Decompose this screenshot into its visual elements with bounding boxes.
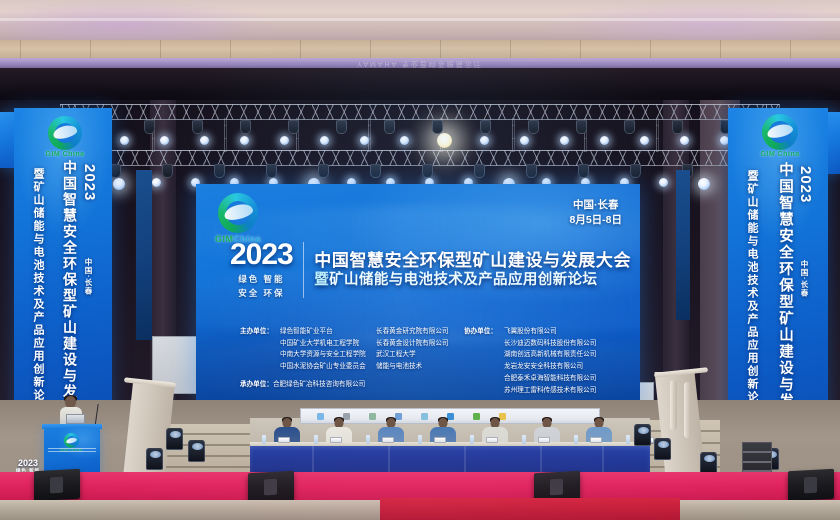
moving-head-light: [474, 164, 485, 178]
host-organizer-name: 长春黄金研究院有限公司: [376, 326, 468, 338]
stage-monitor-4: [788, 469, 834, 501]
stage-light-top: [520, 136, 529, 145]
event-title-sub-text: 矿山储能与电池技术及产品应用创新论坛: [329, 272, 597, 288]
host-organizer-row: 中国矿业大学机电工程学院长春黄金设计院有限公司: [240, 338, 468, 350]
podium-logo: GIM China: [60, 433, 82, 447]
stage-light-top: [600, 136, 609, 145]
banner-left-year: 2023: [81, 164, 98, 201]
moving-head-light: [336, 120, 347, 134]
host-label: [240, 349, 280, 361]
stage-light-top: [200, 136, 209, 145]
stage-light-top: [680, 136, 689, 145]
coorganizer-name: 湖南创远高新机械有限责任公司: [504, 349, 596, 361]
baluster-right-2: [684, 382, 691, 438]
moving-head-light: [192, 120, 203, 134]
road-case: [742, 442, 772, 476]
event-slogan-line1: 绿色 智能: [230, 273, 293, 286]
moving-head-light: [162, 164, 173, 178]
event-date: 8月5日-8日: [569, 213, 622, 228]
podium-year: 2023: [0, 458, 56, 468]
moving-head-light: [526, 164, 537, 178]
host-organizer-row: 主办单位：绿色智能矿业平台长春黄金研究院有限公司: [240, 326, 468, 338]
event-title-block: 2023 绿色 智能 安全 环保 中国智慧安全环保型矿山建设与发展大会 暨矿山储…: [230, 240, 631, 300]
title-divider: [303, 242, 305, 298]
event-slogan-line2: 安全 环保: [230, 287, 293, 300]
moving-head-light: [422, 164, 433, 178]
coorganizer-row: 苏州理工雷科传感技术有限公司: [464, 385, 596, 397]
banner-left-logo-wordmark: GIM China: [40, 151, 90, 158]
truss-brace: [368, 118, 371, 152]
host-organizer-rows: 主办单位：绿色智能矿业平台长春黄金研究院有限公司中国矿业大学机电工程学院长春黄金…: [240, 326, 468, 373]
event-title-sub: 暨矿山储能与电池技术及产品应用创新论坛: [314, 271, 631, 290]
podium-title-lines: [48, 448, 96, 454]
coorganizer-label: [464, 385, 504, 397]
water-bottle: [574, 435, 578, 444]
banner-left-logo-mark: [48, 116, 82, 150]
host-organizer-name: 武汉工程大学: [376, 349, 468, 361]
truss-brace: [656, 118, 659, 152]
water-bottle: [366, 435, 370, 444]
organizer-row: 承办单位： 合肥绿色矿冶科技咨询有限公司: [240, 379, 468, 391]
truss-upper: [60, 104, 780, 120]
taskbar-icon[interactable]: [421, 413, 428, 420]
stage-monitor-2: [248, 471, 294, 503]
stage-light-top: [240, 136, 249, 145]
moving-head-light: [214, 164, 225, 178]
name-placard: [486, 437, 498, 443]
banner-right-logo-wordmark: GIM China: [754, 151, 806, 158]
host-organizer-name: 中南大学资源与安全工程学院: [280, 349, 376, 361]
coorganizers-block: 协办单位：飞翼股份有限公司长沙迪迈数码科技股份有限公司湖南创远高新机械有限责任公…: [464, 326, 596, 396]
coorganizer-name: 飞翼股份有限公司: [504, 326, 557, 338]
coorganizer-label: 协办单位：: [464, 326, 504, 338]
moving-head-light: [384, 120, 395, 134]
host-organizer-row: 中国水泥协会矿山专业委员会储能与电池技术: [240, 361, 468, 373]
banner-right-logo-mark: [762, 114, 798, 150]
name-placard: [382, 437, 394, 443]
host-organizer-row: 中南大学资源与安全工程学院武汉工程大学: [240, 349, 468, 361]
host-organizer-name: 储能与电池技术: [376, 361, 468, 373]
gim-logo-mark: [218, 193, 258, 233]
name-placard: [278, 437, 290, 443]
moving-head-light: [288, 120, 299, 134]
taskbar-icon[interactable]: [369, 413, 376, 420]
moving-head-light: [528, 120, 539, 134]
moving-head-light: [624, 120, 635, 134]
event-location-block: 中国·长春 8月5日-8日: [569, 198, 622, 228]
floor-light-left-3: [146, 448, 163, 470]
water-bottle: [522, 435, 526, 444]
banner-left-subtitle: 暨矿山储能与电池技术及产品应用创新论坛: [30, 168, 46, 415]
vertical-banner-left: GIM China 2023 中国·长春 中国智慧安全环保型矿山建设与发展大会 …: [14, 108, 112, 438]
name-placard: [330, 437, 342, 443]
banner-right-year: 2023: [797, 166, 814, 203]
stage-light-top: [480, 136, 489, 145]
name-placard: [590, 437, 602, 443]
moving-head-light: [370, 164, 381, 178]
host-label: [240, 338, 280, 350]
host-label: 主办单位：: [240, 326, 280, 338]
side-led-inner-right: [676, 170, 690, 320]
main-led-screen: GIMChina 中国·长春 8月5日-8日 2023 绿色 智能 安全 环保 …: [196, 184, 640, 404]
baluster-right-1: [670, 380, 677, 430]
coorganizer-row: 龙岩龙安安全科技有限公司: [464, 361, 596, 373]
stage-light-highlight: [437, 133, 452, 148]
moving-head-light: [480, 120, 491, 134]
truss-brace: [512, 118, 515, 152]
host-organizer-name: 长春黄金设计院有限公司: [376, 338, 468, 350]
stage-light-top: [320, 136, 329, 145]
moving-head-light: [578, 164, 589, 178]
water-bottle: [314, 435, 318, 444]
stage-light-top: [360, 136, 369, 145]
host-organizer-name: 中国矿业大学机电工程学院: [280, 338, 376, 350]
stage-light-bottom: [698, 178, 710, 190]
name-placard: [434, 437, 446, 443]
event-year: 2023: [230, 240, 293, 270]
name-placard: [538, 437, 550, 443]
moving-head-light: [318, 164, 329, 178]
event-title-sub-prefix: 暨: [314, 272, 329, 288]
side-led-inner-left: [136, 170, 152, 340]
moving-head-light: [240, 120, 251, 134]
ceiling-glow-right: [540, 0, 840, 42]
stage-light-top: [400, 136, 409, 145]
moving-head-light: [576, 120, 587, 134]
banner-right-location: 中国·长春: [799, 260, 810, 298]
host-organizer-name: 中国水泥协会矿山专业委员会: [280, 361, 376, 373]
coorganizer-row: 协办单位：飞翼股份有限公司: [464, 326, 596, 338]
banner-left-location: 中国·长春: [83, 258, 94, 296]
stage-light-top: [120, 136, 129, 145]
coorganizer-rows: 协办单位：飞翼股份有限公司长沙迪迈数码科技股份有限公司湖南创远高新机械有限责任公…: [464, 326, 596, 396]
coorganizer-row: 长沙迪迈数码科技股份有限公司: [464, 338, 596, 350]
coorganizer-label: [464, 349, 504, 361]
stage-light-top: [160, 136, 169, 145]
coorganizer-name: 长沙迪迈数码科技股份有限公司: [504, 338, 596, 350]
coorganizer-name: 合肥泰禾卓海智能科技有限公司: [504, 373, 596, 385]
moving-head-light: [144, 120, 155, 134]
ceiling-glow-left: [0, 0, 280, 42]
banner-right-logo: GIM China: [754, 114, 806, 158]
stage-red-runner: [380, 498, 680, 520]
event-year-block: 2023 绿色 智能 安全 环保: [230, 240, 303, 300]
floor-light-left-2: [188, 440, 205, 462]
stage-light-top: [640, 136, 649, 145]
coorganizer-row: 湖南创远高新机械有限责任公司: [464, 349, 596, 361]
stage-light-top: [280, 136, 289, 145]
stage-monitor-1: [34, 469, 80, 501]
coorganizer-label: [464, 338, 504, 350]
conference-stage-photo: YAMAHA 专业音响系统展示厅 GIMChina 中国·长春: [0, 0, 840, 520]
event-title-lines: 中国智慧安全环保型矿山建设与发展大会 暨矿山储能与电池技术及产品应用创新论坛: [314, 250, 631, 290]
truss-brace: [224, 118, 227, 152]
event-title-main: 中国智慧安全环保型矿山建设与发展大会: [314, 250, 631, 271]
taskbar-icon[interactable]: [473, 413, 480, 420]
stage-light-bottom: [659, 178, 668, 187]
floor-light-right-3: [700, 452, 717, 474]
floor-light-left-1: [166, 428, 183, 450]
organizer-value: 合肥绿色矿冶科技咨询有限公司: [273, 379, 365, 391]
gim-china-logo: GIMChina: [210, 193, 266, 244]
moving-head-light: [672, 120, 683, 134]
host-organizer-name: 绿色智能矿业平台: [280, 326, 376, 338]
stage-light-top: [560, 136, 569, 145]
stage-light-bottom: [113, 178, 125, 190]
water-bottle: [418, 435, 422, 444]
organizer-label: 承办单位：: [240, 379, 273, 391]
banner-left-logo: GIM China: [40, 116, 90, 158]
coorganizer-name: 苏州理工雷科传感技术有限公司: [504, 385, 596, 397]
host-organizers-block: 主办单位：绿色智能矿业平台长春黄金研究院有限公司中国矿业大学机电工程学院长春黄金…: [240, 326, 468, 391]
coorganizer-row: 合肥泰禾卓海智能科技有限公司: [464, 373, 596, 385]
taskbar-icon[interactable]: [317, 413, 324, 420]
host-label: [240, 361, 280, 373]
moving-head-light: [630, 164, 641, 178]
water-bottle: [262, 435, 266, 444]
stage-light-bottom: [152, 178, 161, 187]
floor-light-right-2: [654, 438, 671, 460]
event-location: 中国·长春: [569, 198, 622, 213]
coorganizer-name: 龙岩龙安安全科技有限公司: [504, 361, 583, 373]
coorganizer-label: [464, 373, 504, 385]
podium-laptop: [66, 414, 85, 424]
coorganizer-label: [464, 361, 504, 373]
podium-logo-mark: [64, 433, 79, 448]
ceiling: [0, 0, 840, 42]
floor-light-right-1: [634, 424, 651, 446]
moving-head-light: [266, 164, 277, 178]
water-bottle: [470, 435, 474, 444]
moving-head-light: [432, 120, 443, 134]
banner-right-subtitle: 暨矿山储能与电池技术及产品应用创新论坛: [744, 170, 760, 417]
water-bottle: [626, 435, 630, 444]
